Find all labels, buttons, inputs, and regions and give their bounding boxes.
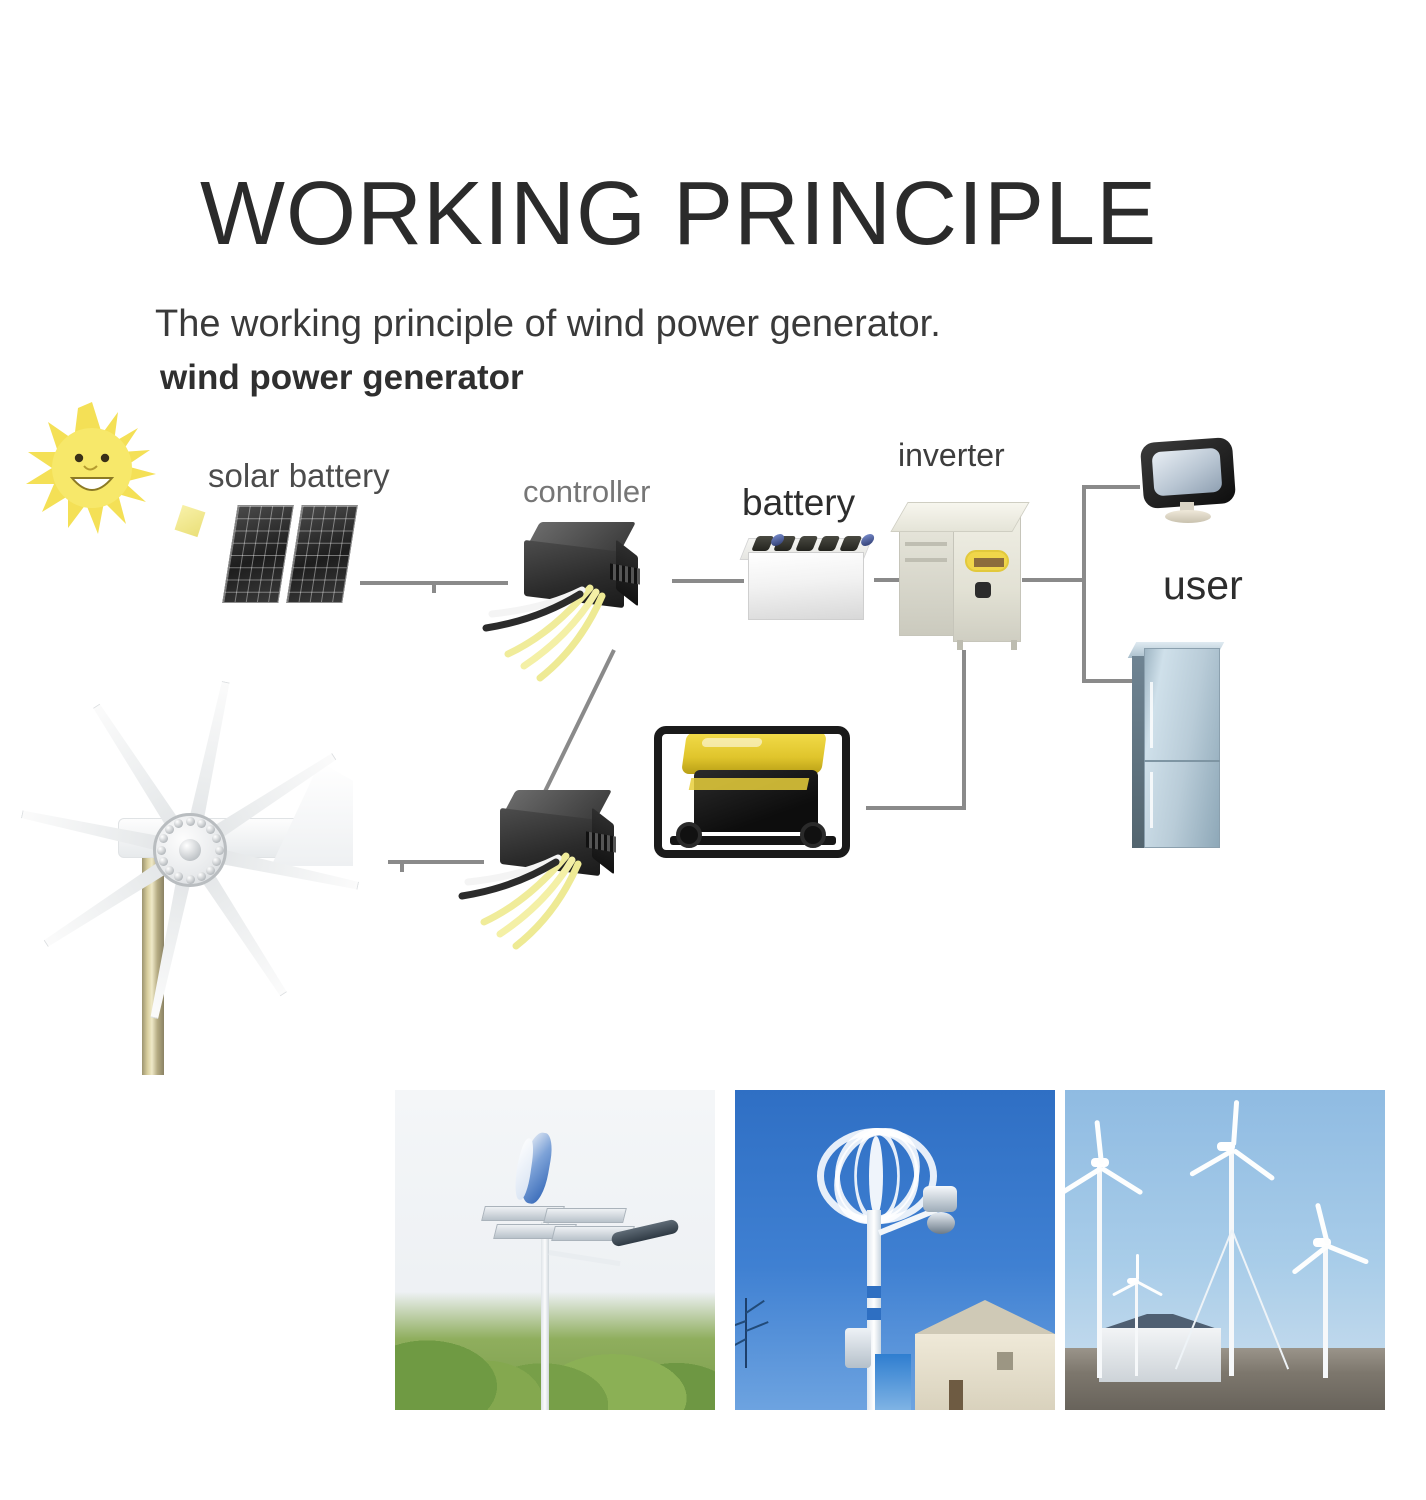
controller-box-icon (500, 790, 618, 876)
subtitle-line-2: wind power generator (160, 358, 524, 398)
turbine-hub-bolt (165, 825, 174, 834)
turbine-hub-bolt (215, 846, 224, 855)
turbine-hub-bolt (197, 872, 206, 881)
photo-street-light (395, 1090, 715, 1410)
turbine-hub-bolt (206, 825, 215, 834)
television-icon (1142, 440, 1240, 532)
inverter-icon (897, 498, 1025, 650)
wire-controller-to-battery (672, 579, 744, 583)
wire-solar-tap (432, 581, 436, 593)
infographic-page: WORKING PRINCIPLE The working principle … (0, 0, 1426, 1500)
wire-turbine-tap (400, 860, 404, 872)
sun-ray-fragment-icon (175, 505, 206, 537)
wire-user-bus (1082, 485, 1086, 683)
label-inverter: inverter (898, 437, 1005, 474)
turbine-hub-bolt (186, 817, 195, 826)
turbine-hub-bolt (157, 846, 166, 855)
turbine-hub-bolt (212, 857, 221, 866)
wire-bus-to-tv (1082, 485, 1140, 489)
turbine-hub-bolt (159, 857, 168, 866)
label-battery: battery (742, 482, 855, 524)
wind-turbine-icon (0, 600, 390, 1100)
label-user: user (1163, 562, 1243, 609)
wire-inverter-down (962, 650, 966, 810)
turbine-hub-bolt (186, 875, 195, 884)
turbine-nose-cone (179, 839, 201, 861)
turbine-hub-bolt (165, 866, 174, 875)
controller-box-icon (524, 522, 642, 608)
label-controller: controller (523, 474, 651, 510)
photo-gallery (395, 1090, 1395, 1410)
turbine-hub-bolt (197, 819, 206, 828)
solar-panel-icon (228, 505, 368, 615)
wire-generator-to-inverter (866, 806, 966, 810)
turbine-hub-bolt (206, 866, 215, 875)
wire-inverter-to-bus (1022, 578, 1084, 582)
photo-maglev-turbine (735, 1090, 1055, 1410)
label-solar-battery: solar battery (208, 457, 390, 495)
battery-icon (742, 528, 878, 624)
page-title: WORKING PRINCIPLE (200, 163, 1157, 266)
subtitle-line-1: The working principle of wind power gene… (155, 303, 941, 346)
gasoline-generator-icon (650, 718, 856, 868)
photo-wind-farm (1065, 1090, 1385, 1410)
sun-icon (22, 400, 162, 540)
refrigerator-icon (1132, 642, 1226, 854)
